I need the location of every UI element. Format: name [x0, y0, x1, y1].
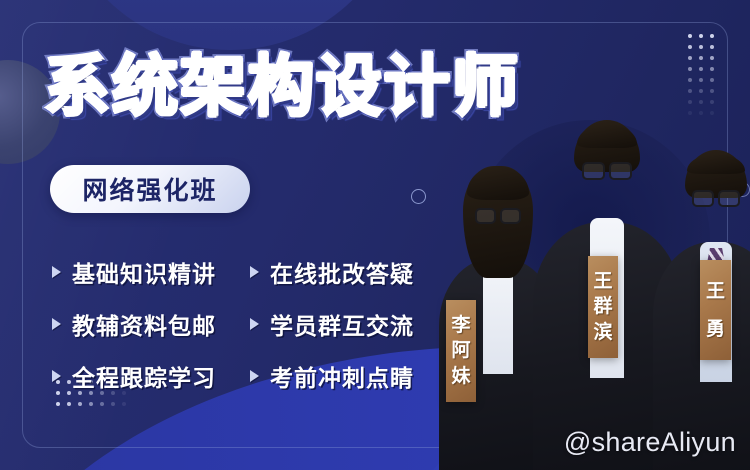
instructor-3-char-1: 勇	[706, 310, 725, 348]
glasses-1	[475, 208, 521, 224]
feature-item: 在线批改答疑	[250, 246, 440, 298]
instructor-3-char-0: 王	[706, 272, 725, 310]
instructor-1-char-1: 阿	[451, 338, 470, 363]
feature-label: 学员群互交流	[270, 307, 414, 341]
glasses-2	[582, 162, 632, 180]
instructor-2-char-0: 王	[593, 269, 612, 294]
instructor-photo-group: 李 阿 妹 王 群 滨	[430, 120, 750, 470]
nameplate-3: 王 勇	[700, 260, 731, 360]
instructor-1-char-0: 李	[451, 313, 470, 338]
feature-label: 教辅资料包邮	[72, 307, 216, 341]
triangle-right-icon	[52, 318, 61, 330]
decorative-circle-outline	[411, 189, 426, 204]
triangle-right-icon	[250, 318, 259, 330]
nameplate-2: 王 群 滨	[588, 256, 618, 358]
glasses-3	[692, 190, 740, 207]
page-title: 系统架构设计师	[44, 54, 520, 120]
feature-item: 基础知识精讲	[52, 246, 250, 298]
feature-item: 教辅资料包邮	[52, 298, 250, 350]
feature-label: 在线批改答疑	[270, 255, 414, 289]
watermark: @shareAliyun	[564, 427, 736, 458]
feature-item: 考前冲刺点睛	[250, 350, 440, 402]
feature-item: 全程跟踪学习	[52, 350, 250, 402]
course-promo-banner: 李 阿 妹 王 群 滨	[0, 0, 750, 470]
feature-list: 基础知识精讲 在线批改答疑 教辅资料包邮 学员群互交流 全程跟踪学习 考前冲刺点…	[52, 246, 440, 402]
feature-label: 全程跟踪学习	[72, 359, 216, 393]
instructor-photo-3: 王 勇	[652, 142, 750, 470]
triangle-right-icon	[250, 370, 259, 382]
instructor-1-char-2: 妹	[451, 364, 470, 389]
dot-grid-top-right	[688, 34, 714, 115]
feature-item: 学员群互交流	[250, 298, 440, 350]
triangle-right-icon	[52, 370, 61, 382]
triangle-right-icon	[52, 266, 61, 278]
triangle-right-icon	[250, 266, 259, 278]
feature-label: 考前冲刺点睛	[270, 359, 414, 393]
feature-label: 基础知识精讲	[72, 255, 216, 289]
course-type-badge-label: 网络强化班	[82, 171, 217, 207]
hair-front-1	[467, 166, 529, 200]
instructor-2-char-2: 滨	[593, 320, 612, 345]
instructor-2-char-1: 群	[593, 294, 612, 319]
nameplate-1: 李 阿 妹	[446, 300, 476, 402]
course-type-badge: 网络强化班	[50, 165, 250, 213]
